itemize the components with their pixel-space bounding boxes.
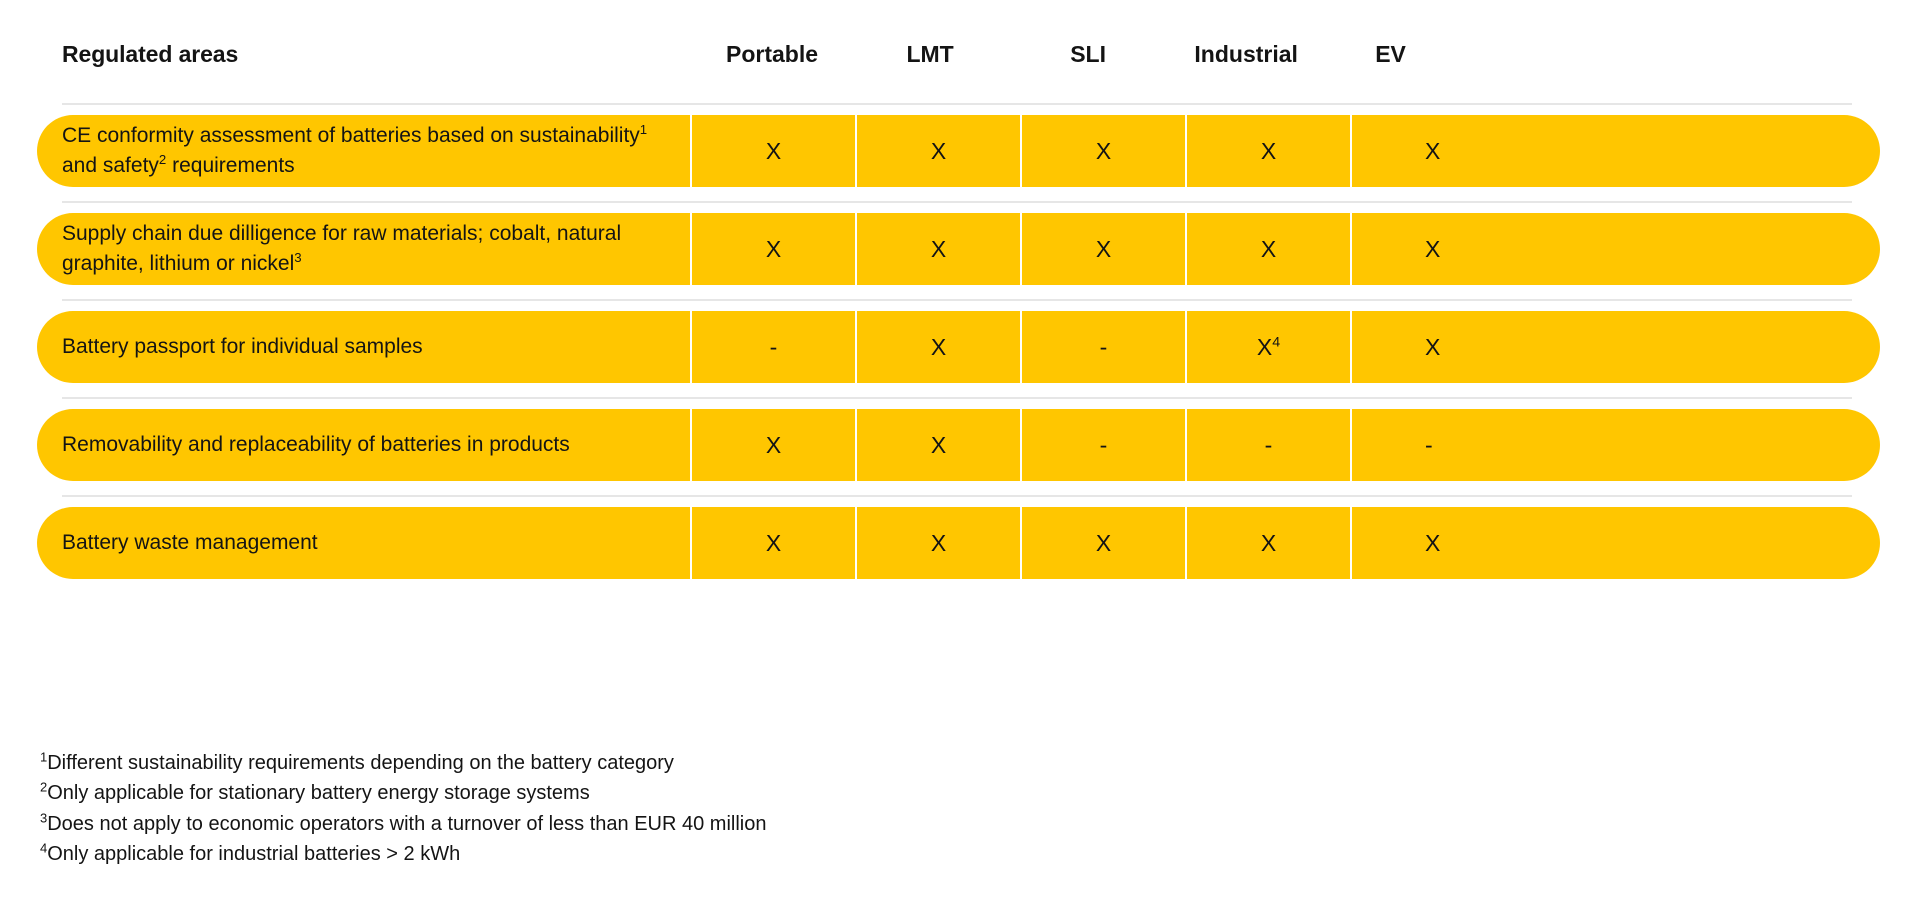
- table-cell: X: [855, 409, 1020, 481]
- table-cell: -: [690, 311, 855, 383]
- table-row: Battery waste managementXXXXX: [0, 495, 1920, 593]
- footnote: 1Different sustainability requirements d…: [40, 748, 1440, 778]
- table-row: Removability and replaceability of batte…: [0, 397, 1920, 495]
- table-cell: X: [855, 213, 1020, 285]
- table-cell: -: [1020, 311, 1185, 383]
- cell-value: X: [766, 432, 781, 459]
- footnote-text: Only applicable for industrial batteries…: [47, 843, 460, 865]
- cell-value: -: [1265, 432, 1273, 459]
- table-cell: -: [1350, 409, 1880, 481]
- category-column-headers: Portable LMT SLI Industrial EV: [693, 41, 1880, 68]
- table-cell: X: [690, 213, 855, 285]
- table-cell: X: [1350, 115, 1880, 187]
- cell-value: X4: [1257, 334, 1280, 361]
- footnote-text: Different sustainability requirements de…: [47, 752, 674, 774]
- row-pill: Supply chain due dilligence for raw mate…: [37, 213, 1880, 285]
- cell-value: X: [1425, 236, 1440, 263]
- cell-value: X: [1096, 236, 1111, 263]
- table-cell: X: [855, 507, 1020, 579]
- table-cell: X: [1185, 507, 1350, 579]
- footnote: 4Only applicable for industrial batterie…: [40, 839, 1440, 869]
- column-header-lmt: LMT: [851, 41, 1009, 68]
- cell-value: -: [1425, 432, 1433, 459]
- row-cells: XXXXX: [690, 115, 1880, 187]
- cell-value: X: [1425, 334, 1440, 361]
- cell-value: X: [931, 530, 946, 557]
- table-cell: X4: [1185, 311, 1350, 383]
- footnote-text: Does not apply to economic operators wit…: [47, 813, 766, 835]
- cell-value: X: [766, 138, 781, 165]
- table-cell: X: [690, 409, 855, 481]
- cell-value: X: [931, 236, 946, 263]
- table-cell: X: [1020, 213, 1185, 285]
- footnote-text: Only applicable for stationary battery e…: [47, 782, 589, 804]
- column-header-sli: SLI: [1009, 41, 1167, 68]
- cell-value: X: [931, 432, 946, 459]
- row-pill: CE conformity assessment of batteries ba…: [37, 115, 1880, 187]
- table-cell: X: [1350, 311, 1880, 383]
- cell-value: X: [1096, 530, 1111, 557]
- table-cell: X: [1020, 507, 1185, 579]
- row-cells: XXXXX: [690, 213, 1880, 285]
- row-divider: [62, 397, 1852, 399]
- table-cell: X: [1185, 213, 1350, 285]
- table-row: CE conformity assessment of batteries ba…: [0, 103, 1920, 201]
- table-cell: X: [1350, 507, 1880, 579]
- row-label: Battery waste management: [37, 528, 690, 558]
- regulated-areas-table-page: Regulated areas Portable LMT SLI Industr…: [0, 0, 1920, 912]
- row-pill: Battery passport for individual samples-…: [37, 311, 1880, 383]
- table-cell: -: [1185, 409, 1350, 481]
- row-divider: [62, 201, 1852, 203]
- row-pill: Battery waste managementXXXXX: [37, 507, 1880, 579]
- row-divider: [62, 495, 1852, 497]
- table-cell: X: [690, 115, 855, 187]
- row-divider: [62, 103, 1852, 105]
- column-header-ev: EV: [1325, 41, 1880, 68]
- row-cells: XXXXX: [690, 507, 1880, 579]
- table-cell: X: [1020, 115, 1185, 187]
- row-divider: [62, 299, 1852, 301]
- row-label: Removability and replaceability of batte…: [37, 430, 690, 460]
- cell-value: -: [1100, 334, 1108, 361]
- cell-value: X: [1261, 236, 1276, 263]
- cell-value: X: [1096, 138, 1111, 165]
- row-cells: XX---: [690, 409, 1880, 481]
- cell-value: X: [1425, 530, 1440, 557]
- column-header-industrial: Industrial: [1167, 41, 1325, 68]
- footnote: 2Only applicable for stationary battery …: [40, 778, 1440, 808]
- row-pill: Removability and replaceability of batte…: [37, 409, 1880, 481]
- row-cells: -X-X4X: [690, 311, 1880, 383]
- table-cell: -: [1020, 409, 1185, 481]
- table-row: Battery passport for individual samples-…: [0, 299, 1920, 397]
- footnote-list: 1Different sustainability requirements d…: [40, 748, 1440, 870]
- cell-value: X: [1425, 138, 1440, 165]
- table-cell: X: [690, 507, 855, 579]
- cell-value: X: [766, 236, 781, 263]
- column-header-regulated-areas: Regulated areas: [0, 41, 693, 68]
- cell-value: X: [1261, 530, 1276, 557]
- table-cell: X: [1350, 213, 1880, 285]
- table-cell: X: [1185, 115, 1350, 187]
- table-row: Supply chain due dilligence for raw mate…: [0, 201, 1920, 299]
- column-header-portable: Portable: [693, 41, 851, 68]
- cell-value: X: [766, 530, 781, 557]
- table-cell: X: [855, 115, 1020, 187]
- row-label: CE conformity assessment of batteries ba…: [37, 121, 690, 181]
- table-header-row: Regulated areas Portable LMT SLI Industr…: [0, 28, 1920, 80]
- cell-value: -: [770, 334, 778, 361]
- cell-value: X: [931, 138, 946, 165]
- cell-value: X: [1261, 138, 1276, 165]
- footnote: 3Does not apply to economic operators wi…: [40, 809, 1440, 839]
- cell-value: X: [931, 334, 946, 361]
- table-cell: X: [855, 311, 1020, 383]
- cell-value: -: [1100, 432, 1108, 459]
- row-label: Battery passport for individual samples: [37, 332, 690, 362]
- row-label: Supply chain due dilligence for raw mate…: [37, 219, 690, 279]
